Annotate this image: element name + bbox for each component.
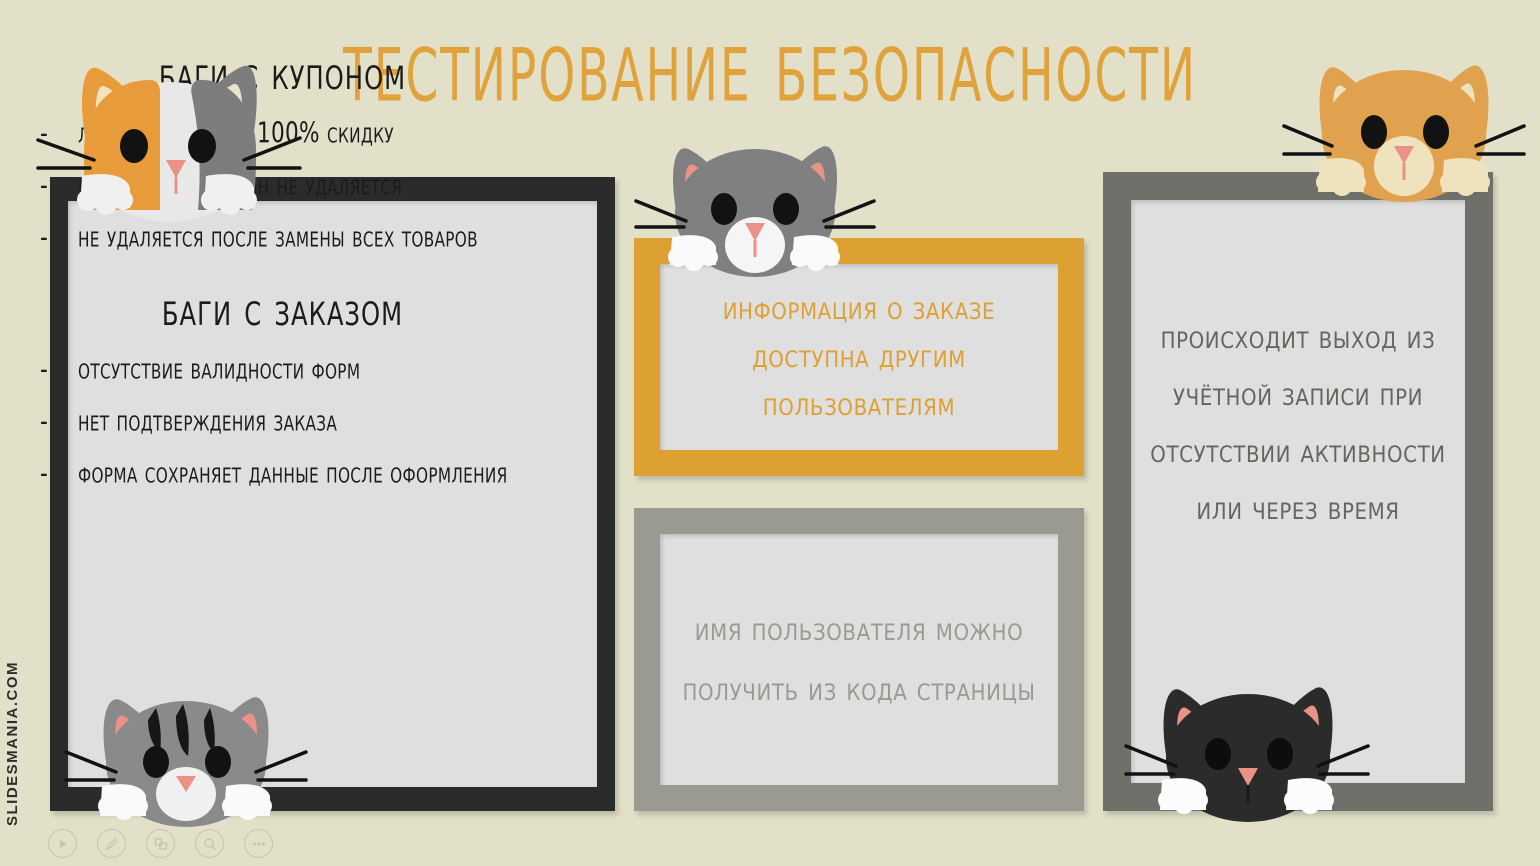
list-item: - Отсутствие валидности форм xyxy=(36,353,533,384)
orange-card-text: Информация о заказе доступна другим поль… xyxy=(670,285,1048,429)
list-item: - Форма сохраняет данные после оформлени… xyxy=(36,457,533,488)
list-item-label: Нет подтверждения заказа xyxy=(78,404,337,438)
gray-cat xyxy=(648,133,862,265)
list-item: - Не удаляется после замены всех товаров xyxy=(36,221,533,252)
bullet-dash: - xyxy=(40,353,54,384)
slides-icon[interactable] xyxy=(146,829,175,858)
black-cat xyxy=(1140,676,1356,810)
gray-card-text: Имя пользователя можно получить из кода … xyxy=(666,600,1052,720)
orange-cat-icon xyxy=(1298,52,1510,192)
tabby-cat xyxy=(80,686,292,816)
orange-cat xyxy=(1298,52,1510,192)
list-item-label: Форма сохраняет данные после оформления xyxy=(78,456,508,490)
list-item: - Нет подтверждения заказа xyxy=(36,405,533,436)
order-bugs-list: - Отсутствие валидности форм - Нет подтв… xyxy=(32,356,533,486)
list-item-label: Не удаляется после замены всех товаров xyxy=(78,220,478,254)
tabby-cat-icon xyxy=(80,686,292,816)
list-item-label: Отсутствие валидности форм xyxy=(78,352,360,386)
slide-canvas: Тестирование безопасности Баги с купоном… xyxy=(0,0,1540,866)
gray-card: Имя пользователя можно получить из кода … xyxy=(634,508,1084,811)
more-icon[interactable] xyxy=(244,829,273,858)
slidesmania-watermark: SLIDESMANIA.COM xyxy=(4,661,21,826)
section-heading-order-bugs: Баги с заказом xyxy=(32,282,533,341)
calico-cat xyxy=(52,42,304,202)
search-icon[interactable] xyxy=(195,829,224,858)
pen-icon[interactable] xyxy=(97,829,126,858)
play-icon[interactable] xyxy=(48,829,77,858)
gray-cat-icon xyxy=(648,133,862,265)
bullet-dash: - xyxy=(40,457,54,488)
orange-card: Информация о заказе доступна другим поль… xyxy=(634,238,1084,476)
calico-cat-icon xyxy=(52,42,304,202)
presentation-toolbar xyxy=(48,829,273,858)
bullet-dash: - xyxy=(40,221,54,252)
black-cat-icon xyxy=(1140,676,1356,810)
right-panel-text: Происходит выход из учётной записи при о… xyxy=(1150,320,1445,527)
bullet-dash: - xyxy=(40,405,54,436)
